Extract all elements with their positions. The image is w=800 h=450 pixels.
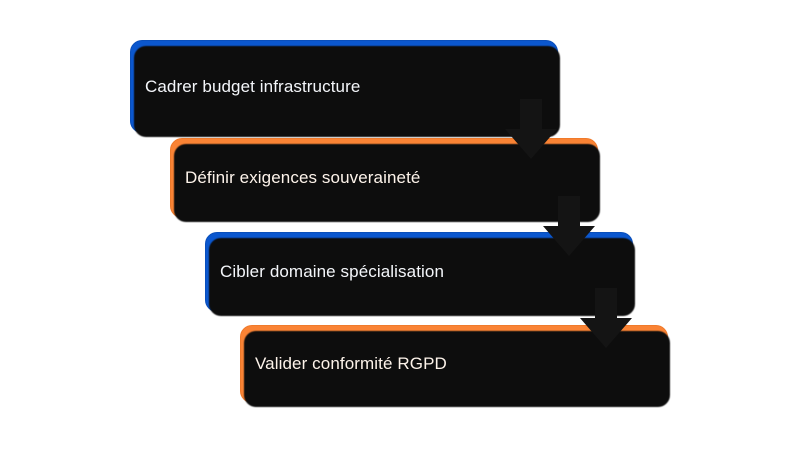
flow-arrow-1-down-icon (503, 99, 559, 161)
diagram-canvas: Cadrer budget infrastructure Définir exi… (0, 0, 800, 450)
flow-step-2-label: Définir exigences souveraineté (171, 168, 420, 188)
flow-step-1[interactable]: Cadrer budget infrastructure (130, 40, 558, 133)
flow-step-3-label: Cibler domaine spécialisation (206, 262, 444, 282)
flow-step-1-label: Cadrer budget infrastructure (131, 77, 360, 97)
flow-arrow-2-down-icon (541, 196, 597, 258)
flow-step-4-label: Valider conformité RGPD (241, 354, 447, 374)
flow-arrow-3-down-icon (578, 288, 634, 350)
